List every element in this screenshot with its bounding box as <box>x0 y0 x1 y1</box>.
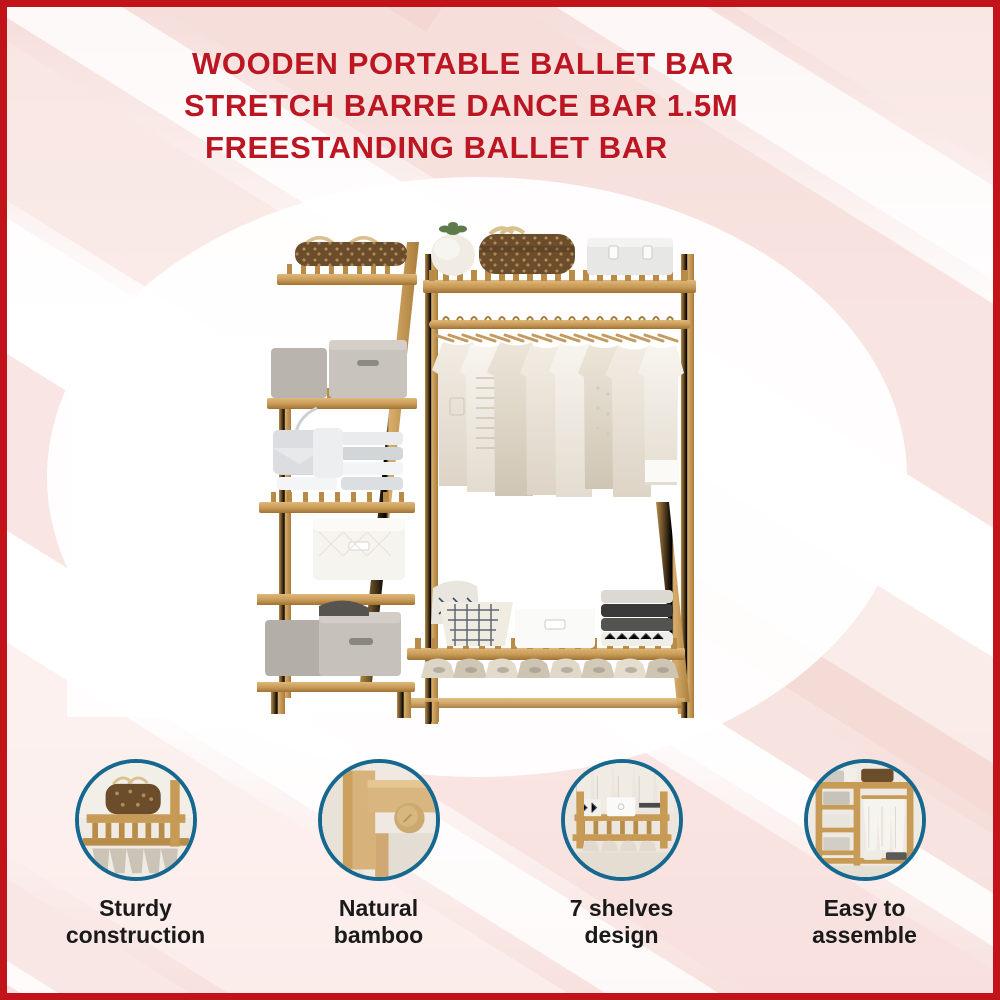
feature-item-seven-shelves-design: 7 shelves design <box>517 759 727 949</box>
seven-shelves-icon-svg <box>565 763 679 877</box>
feature-item-easy-to-assemble: Easy to assemble <box>760 759 970 949</box>
garment-rack-illustration <box>257 202 727 742</box>
feature-badges: Sturdy construction <box>14 759 986 979</box>
bamboo-joint-icon-svg <box>322 763 436 877</box>
feature-caption: 7 shelves design <box>570 895 674 949</box>
product-title-line-1: WOODEN PORTABLE BALLET BAR <box>192 43 892 85</box>
shelf-with-bag-icon-svg <box>79 763 193 877</box>
bamboo-joint-icon <box>318 759 440 881</box>
feature-item-natural-bamboo: Natural bamboo <box>274 759 484 949</box>
full-rack-icon-svg <box>808 763 922 877</box>
shelf-with-bag-icon <box>75 759 197 881</box>
feature-caption: Natural bamboo <box>334 895 423 949</box>
hero-product-image <box>257 202 727 742</box>
product-title: WOODEN PORTABLE BALLET BAR STRETCH BARRE… <box>192 43 892 169</box>
feature-caption: Sturdy construction <box>66 895 205 949</box>
feature-item-sturdy-construction: Sturdy construction <box>31 759 241 949</box>
feature-caption: Easy to assemble <box>812 895 917 949</box>
product-title-line-3: FREESTANDING BALLET BAR <box>205 127 892 169</box>
product-title-line-2: STRETCH BARRE DANCE BAR 1.5M <box>184 85 892 127</box>
product-listing-image: WOODEN PORTABLE BALLET BAR STRETCH BARRE… <box>0 0 1000 1000</box>
full-rack-icon <box>804 759 926 881</box>
seven-shelves-icon <box>561 759 683 881</box>
